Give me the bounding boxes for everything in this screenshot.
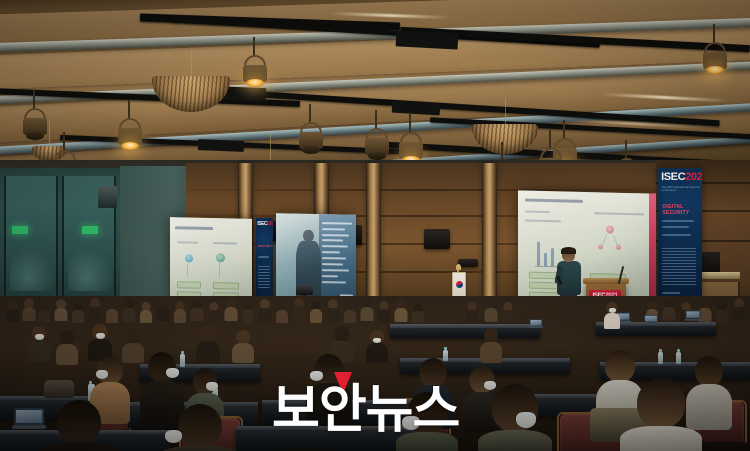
audience-member (208, 302, 220, 321)
audience-member-foreground (620, 378, 702, 451)
wall-speaker (98, 186, 117, 208)
audience-member (232, 330, 254, 360)
audience-member (38, 302, 50, 321)
truss-junction-box (198, 139, 244, 152)
audience-table (390, 324, 540, 338)
water-bottle (676, 352, 681, 364)
audience-member (412, 303, 424, 322)
truss-junction-box (396, 30, 459, 49)
pendant-bowl (152, 76, 230, 112)
presenter-hair (561, 247, 576, 254)
audience-member (502, 302, 514, 321)
audience-member (716, 302, 728, 321)
banner-year-text: 2021 (267, 221, 273, 227)
audience-member (6, 300, 19, 320)
banner-isec-text: ISEC (257, 221, 267, 227)
audience-member (224, 298, 237, 319)
slide-figure (185, 254, 193, 262)
exit-sign-icon (82, 226, 98, 234)
audience-member (122, 299, 135, 320)
taeguk-symbol (456, 281, 463, 288)
video-person-head (303, 229, 313, 242)
audience-member (480, 328, 502, 359)
audience-member (88, 298, 101, 319)
audience-member-foreground (40, 400, 118, 451)
screen-edge-accent (649, 194, 656, 304)
pendant-lamp (472, 124, 538, 154)
audience-member-foreground (160, 404, 240, 451)
pendant-lamp (152, 76, 230, 112)
audience-member (242, 301, 254, 321)
audience-member (106, 301, 118, 321)
conference-hall-photo: ISEC2021 The 20th International Security… (0, 0, 750, 451)
banner-year-text: 2021 (685, 171, 702, 183)
audience-member-foreground (262, 408, 348, 451)
water-bottle (658, 352, 663, 364)
audience-member (72, 302, 84, 321)
audience-member (326, 299, 339, 319)
door-decor (68, 249, 114, 291)
audience-member (366, 330, 388, 360)
glass-door[interactable] (4, 176, 58, 301)
audience-member-foreground (478, 384, 552, 451)
audience-member (174, 301, 186, 321)
audience-member-foreground (396, 392, 458, 451)
audience-member (310, 301, 322, 321)
audience-member (394, 299, 407, 320)
audience-member (484, 299, 497, 320)
slide-figure (216, 253, 225, 262)
audience-member (28, 326, 50, 358)
pendant-wire (505, 98, 506, 126)
wall-speaker (458, 259, 478, 267)
wall-seam (186, 189, 656, 191)
banner-isec-text: ISEC (661, 171, 685, 183)
audience-member (22, 298, 35, 319)
audience-member (258, 299, 271, 320)
audience-member (604, 302, 620, 326)
wall-speaker (424, 229, 450, 249)
audience-member (276, 302, 288, 321)
audience-member (732, 298, 745, 319)
audience-member (88, 324, 112, 358)
pendant-bowl (472, 124, 538, 154)
pendant-wire (49, 120, 50, 148)
laptop (643, 315, 658, 324)
audience-area (0, 296, 750, 451)
pendant-wire (191, 50, 192, 78)
audience-member (56, 330, 78, 361)
door-decor (10, 249, 56, 291)
podium-top (583, 278, 629, 284)
audience-member (378, 301, 390, 321)
audience-member (466, 302, 478, 321)
audience-member (360, 298, 373, 319)
laptop (684, 310, 701, 320)
audience-member (140, 302, 152, 321)
audience-member (662, 298, 675, 319)
audience-member (156, 298, 169, 319)
bag (44, 380, 74, 398)
exit-sign-icon (12, 226, 28, 234)
audience-member (292, 298, 305, 319)
audience-member (344, 302, 356, 321)
audience-member (54, 299, 67, 319)
pendant-wire (270, 134, 271, 162)
audience-member (196, 326, 220, 359)
audience-member (190, 299, 203, 319)
laptop (529, 319, 543, 328)
